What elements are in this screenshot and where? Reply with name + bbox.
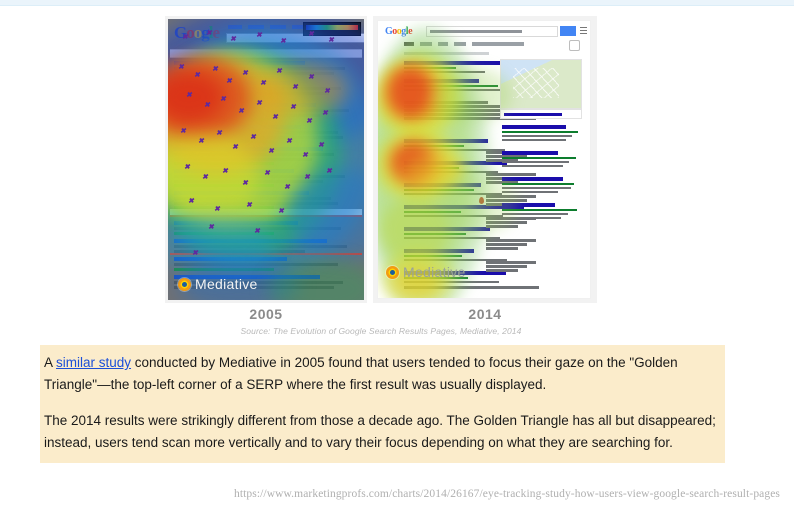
serp-result-row bbox=[174, 61, 356, 79]
serp-vertical-tabs-2014 bbox=[404, 42, 524, 46]
google-logo-2005: Google bbox=[174, 24, 219, 41]
mediative-sun-icon bbox=[386, 266, 399, 279]
results-stat-bar-2014 bbox=[404, 52, 489, 55]
serp-result-row bbox=[174, 81, 356, 99]
local-pack-listing bbox=[486, 239, 540, 251]
gear-icon bbox=[569, 40, 580, 51]
serp-result-row bbox=[174, 169, 356, 187]
serp-result-row bbox=[174, 221, 356, 235]
heatmap-panel-2014: Google bbox=[373, 16, 597, 303]
search-query-text bbox=[430, 30, 522, 33]
serp-result-row bbox=[174, 103, 356, 121]
knowledge-panel-item bbox=[502, 203, 582, 221]
commentary-highlight-block: A similar study conducted by Mediative i… bbox=[40, 345, 725, 463]
footer-source-url: https://www.marketingprofs.com/charts/20… bbox=[0, 488, 794, 500]
heatmap-red-streak bbox=[170, 215, 362, 217]
map-pin-icon bbox=[479, 197, 484, 204]
heatmap-panels: Google bbox=[165, 16, 597, 303]
commentary-p1-lead: A bbox=[44, 355, 56, 370]
serp-footer-link bbox=[404, 286, 554, 290]
knowledge-panel-item bbox=[502, 125, 582, 143]
serp-result-row bbox=[174, 125, 356, 143]
eye-tracking-figure: Google bbox=[0, 8, 794, 338]
year-label-2005: 2005 bbox=[165, 306, 367, 322]
serp-screenshot-2014: Google bbox=[377, 20, 591, 299]
mediative-wordmark: Mediative bbox=[403, 264, 466, 280]
mediative-wordmark: Mediative bbox=[195, 276, 258, 292]
commentary-p1-rest: conducted by Mediative in 2005 found tha… bbox=[44, 355, 678, 392]
top-accent-divider bbox=[0, 5, 794, 6]
commentary-paragraph-2: The 2014 results were strikingly differe… bbox=[44, 410, 725, 454]
mediative-watermark-2005: Mediative bbox=[178, 276, 258, 292]
mediative-watermark-2014: Mediative bbox=[386, 264, 466, 280]
map-caption-link bbox=[500, 109, 582, 119]
search-box-2014 bbox=[426, 26, 558, 37]
heatmap-legend-2005 bbox=[303, 22, 361, 36]
apps-grid-icon bbox=[580, 27, 587, 34]
serp-result-row bbox=[174, 147, 356, 165]
google-logo-2014: Google bbox=[385, 27, 412, 37]
commentary-paragraph-1: A similar study conducted by Mediative i… bbox=[44, 352, 725, 396]
knowledge-panel-item bbox=[502, 151, 582, 169]
serp-result-row bbox=[174, 257, 356, 271]
serp-screenshot-2005: Google bbox=[168, 19, 364, 300]
heatmap-red-streak bbox=[170, 253, 362, 255]
local-pack-listing bbox=[486, 261, 540, 273]
map-thumbnail bbox=[500, 59, 582, 109]
year-label-2014: 2014 bbox=[373, 306, 597, 322]
results-stat-bar-2005 bbox=[170, 49, 362, 58]
figure-source-caption: Source: The Evolution of Google Search R… bbox=[165, 326, 597, 336]
mediative-sun-icon bbox=[178, 278, 191, 291]
knowledge-panel-item bbox=[502, 177, 582, 195]
similar-study-link[interactable]: similar study bbox=[56, 355, 131, 370]
serp-result-row bbox=[174, 239, 356, 254]
heatmap-panel-2005: Google bbox=[165, 16, 367, 303]
serp-result-row bbox=[174, 191, 356, 209]
search-submit-button-2014 bbox=[560, 26, 576, 36]
